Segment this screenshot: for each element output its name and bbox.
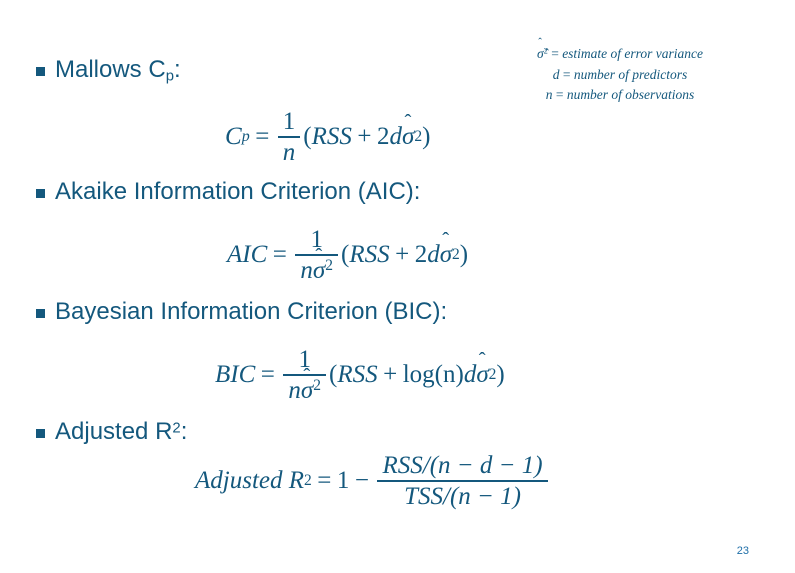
term-d: d <box>427 241 440 269</box>
legend-description: number of observations <box>567 87 695 102</box>
legend-equals: = <box>563 67 571 82</box>
page-number: 23 <box>737 545 749 557</box>
legend-equals: = <box>551 46 559 61</box>
legend-symbol: d <box>553 67 560 82</box>
formula-lhs: C <box>225 123 242 151</box>
fraction-denominator: TSS/(n − 1) <box>399 482 526 510</box>
sigma-exponent: 2 <box>489 366 497 384</box>
term-rss: RSS <box>337 361 377 389</box>
bullet-label-suffix: : <box>174 56 181 83</box>
fraction-one-over-n-sigma-sq: 1 nˆσ2 <box>295 226 338 284</box>
hat-accent-icon: ˆ <box>442 230 449 251</box>
square-bullet-icon <box>36 309 45 318</box>
plus-sign: + <box>357 123 371 151</box>
sigma-hat-symbol: ˆσ <box>313 257 325 284</box>
sigma-exponent: 2 <box>313 377 321 394</box>
bullet-label-superscript: 2 <box>172 420 180 436</box>
term-log-n: log(n) <box>403 361 464 389</box>
legend-symbol: n <box>546 87 553 102</box>
coefficient-two: 2 <box>415 241 428 269</box>
term-d: d <box>390 123 403 151</box>
sigma-exponent: 2 <box>414 128 422 146</box>
constant-one: 1 <box>337 467 350 495</box>
equals-sign: = <box>273 241 287 269</box>
formula-bic: BIC = 1 nˆσ2 (RSS+log(n)dˆσ2) <box>215 346 505 404</box>
hat-accent-icon: ˆ <box>303 366 310 387</box>
fraction-denominator: nˆσ2 <box>283 376 326 404</box>
legend-description: number of predictors <box>574 67 688 82</box>
square-bullet-icon <box>36 67 45 76</box>
formula-lhs: Adjusted R <box>195 467 304 495</box>
formula-lhs-exponent: 2 <box>304 472 312 490</box>
square-bullet-icon <box>36 189 45 198</box>
sigma-hat-symbol: ˆσ <box>476 361 488 389</box>
sigma-exponent: 2 <box>325 257 333 274</box>
fraction-numerator: 1 <box>278 108 301 136</box>
sigma-hat-symbol: ˆσ <box>402 123 414 151</box>
bullet-label-text: Adjusted R <box>55 418 172 445</box>
fraction-rss-over-tss: RSS/(n − d − 1) TSS/(n − 1) <box>377 452 547 510</box>
bullet-label-bic: Bayesian Information Criterion (BIC): <box>55 298 447 326</box>
fraction-denominator: n <box>278 138 301 166</box>
sigma-hat-symbol: ˆσ <box>301 377 313 404</box>
slide-canvas: ˆσ̂2 = estimate of error variance d = nu… <box>0 0 795 573</box>
formula-lhs: AIC <box>227 241 267 269</box>
formula-lhs: BIC <box>215 361 255 389</box>
close-paren: ) <box>422 123 430 151</box>
equals-sign: = <box>255 123 269 151</box>
bullet-label-text: Mallows C <box>55 56 166 83</box>
bullet-label-suffix: : <box>181 418 188 445</box>
denominator-n: n <box>288 377 301 404</box>
coefficient-two: 2 <box>377 123 390 151</box>
equals-sign: = <box>317 467 331 495</box>
sigma-hat-symbol: ˆσ̂ <box>537 44 544 65</box>
bullet-label-subscript: p <box>166 68 174 84</box>
formula-mallows-cp: Cp = 1 n (RSS+2dˆσ2) <box>225 108 430 166</box>
hat-accent-icon: ˆ <box>479 350 486 371</box>
fraction-one-over-n-sigma-sq: 1 nˆσ2 <box>283 346 326 404</box>
close-paren: ) <box>460 241 468 269</box>
legend-line-sigma: ˆσ̂2 = estimate of error variance <box>470 44 770 65</box>
bullet-item-adjusted-r2: Adjusted R2: <box>36 418 187 446</box>
fraction-denominator: nˆσ2 <box>295 256 338 284</box>
legend-line-n: n = number of observations <box>470 85 770 106</box>
fraction-numerator: RSS/(n − d − 1) <box>377 452 547 480</box>
bullet-item-bic: Bayesian Information Criterion (BIC): <box>36 298 447 326</box>
symbol-legend: ˆσ̂2 = estimate of error variance d = nu… <box>470 44 770 106</box>
equals-sign: = <box>261 361 275 389</box>
fraction-one-over-n: 1 n <box>278 108 301 166</box>
plus-sign: + <box>383 361 397 389</box>
term-d: d <box>464 361 477 389</box>
formula-lhs-subscript: p <box>242 128 250 146</box>
term-rss: RSS <box>312 123 352 151</box>
legend-superscript: 2 <box>544 47 548 56</box>
square-bullet-icon <box>36 429 45 438</box>
hat-accent-icon: ˆ <box>315 246 322 267</box>
bullet-label-adjusted-r2: Adjusted R2: <box>55 418 187 446</box>
hat-accent-icon: ˆ <box>538 38 542 49</box>
minus-sign: − <box>355 467 369 495</box>
bullet-item-aic: Akaike Information Criterion (AIC): <box>36 178 420 206</box>
legend-line-d: d = number of predictors <box>470 65 770 86</box>
term-rss: RSS <box>349 241 389 269</box>
bullet-label-aic: Akaike Information Criterion (AIC): <box>55 178 420 206</box>
close-paren: ) <box>496 361 504 389</box>
hat-accent-icon: ˆ <box>405 112 412 133</box>
open-paren: ( <box>303 123 311 151</box>
formula-adjusted-r2: Adjusted R2 = 1 − RSS/(n − d − 1) TSS/(n… <box>195 452 551 510</box>
bullet-label-mallows-cp: Mallows Cp: <box>55 56 181 85</box>
formula-aic: AIC = 1 nˆσ2 (RSS+2dˆσ2) <box>227 226 468 284</box>
bullet-item-mallows-cp: Mallows Cp: <box>36 56 181 85</box>
denominator-n: n <box>300 257 313 284</box>
legend-description: estimate of error variance <box>562 46 703 61</box>
plus-sign: + <box>395 241 409 269</box>
sigma-hat-symbol: ˆσ <box>440 241 452 269</box>
legend-equals: = <box>556 87 564 102</box>
sigma-exponent: 2 <box>452 246 460 264</box>
